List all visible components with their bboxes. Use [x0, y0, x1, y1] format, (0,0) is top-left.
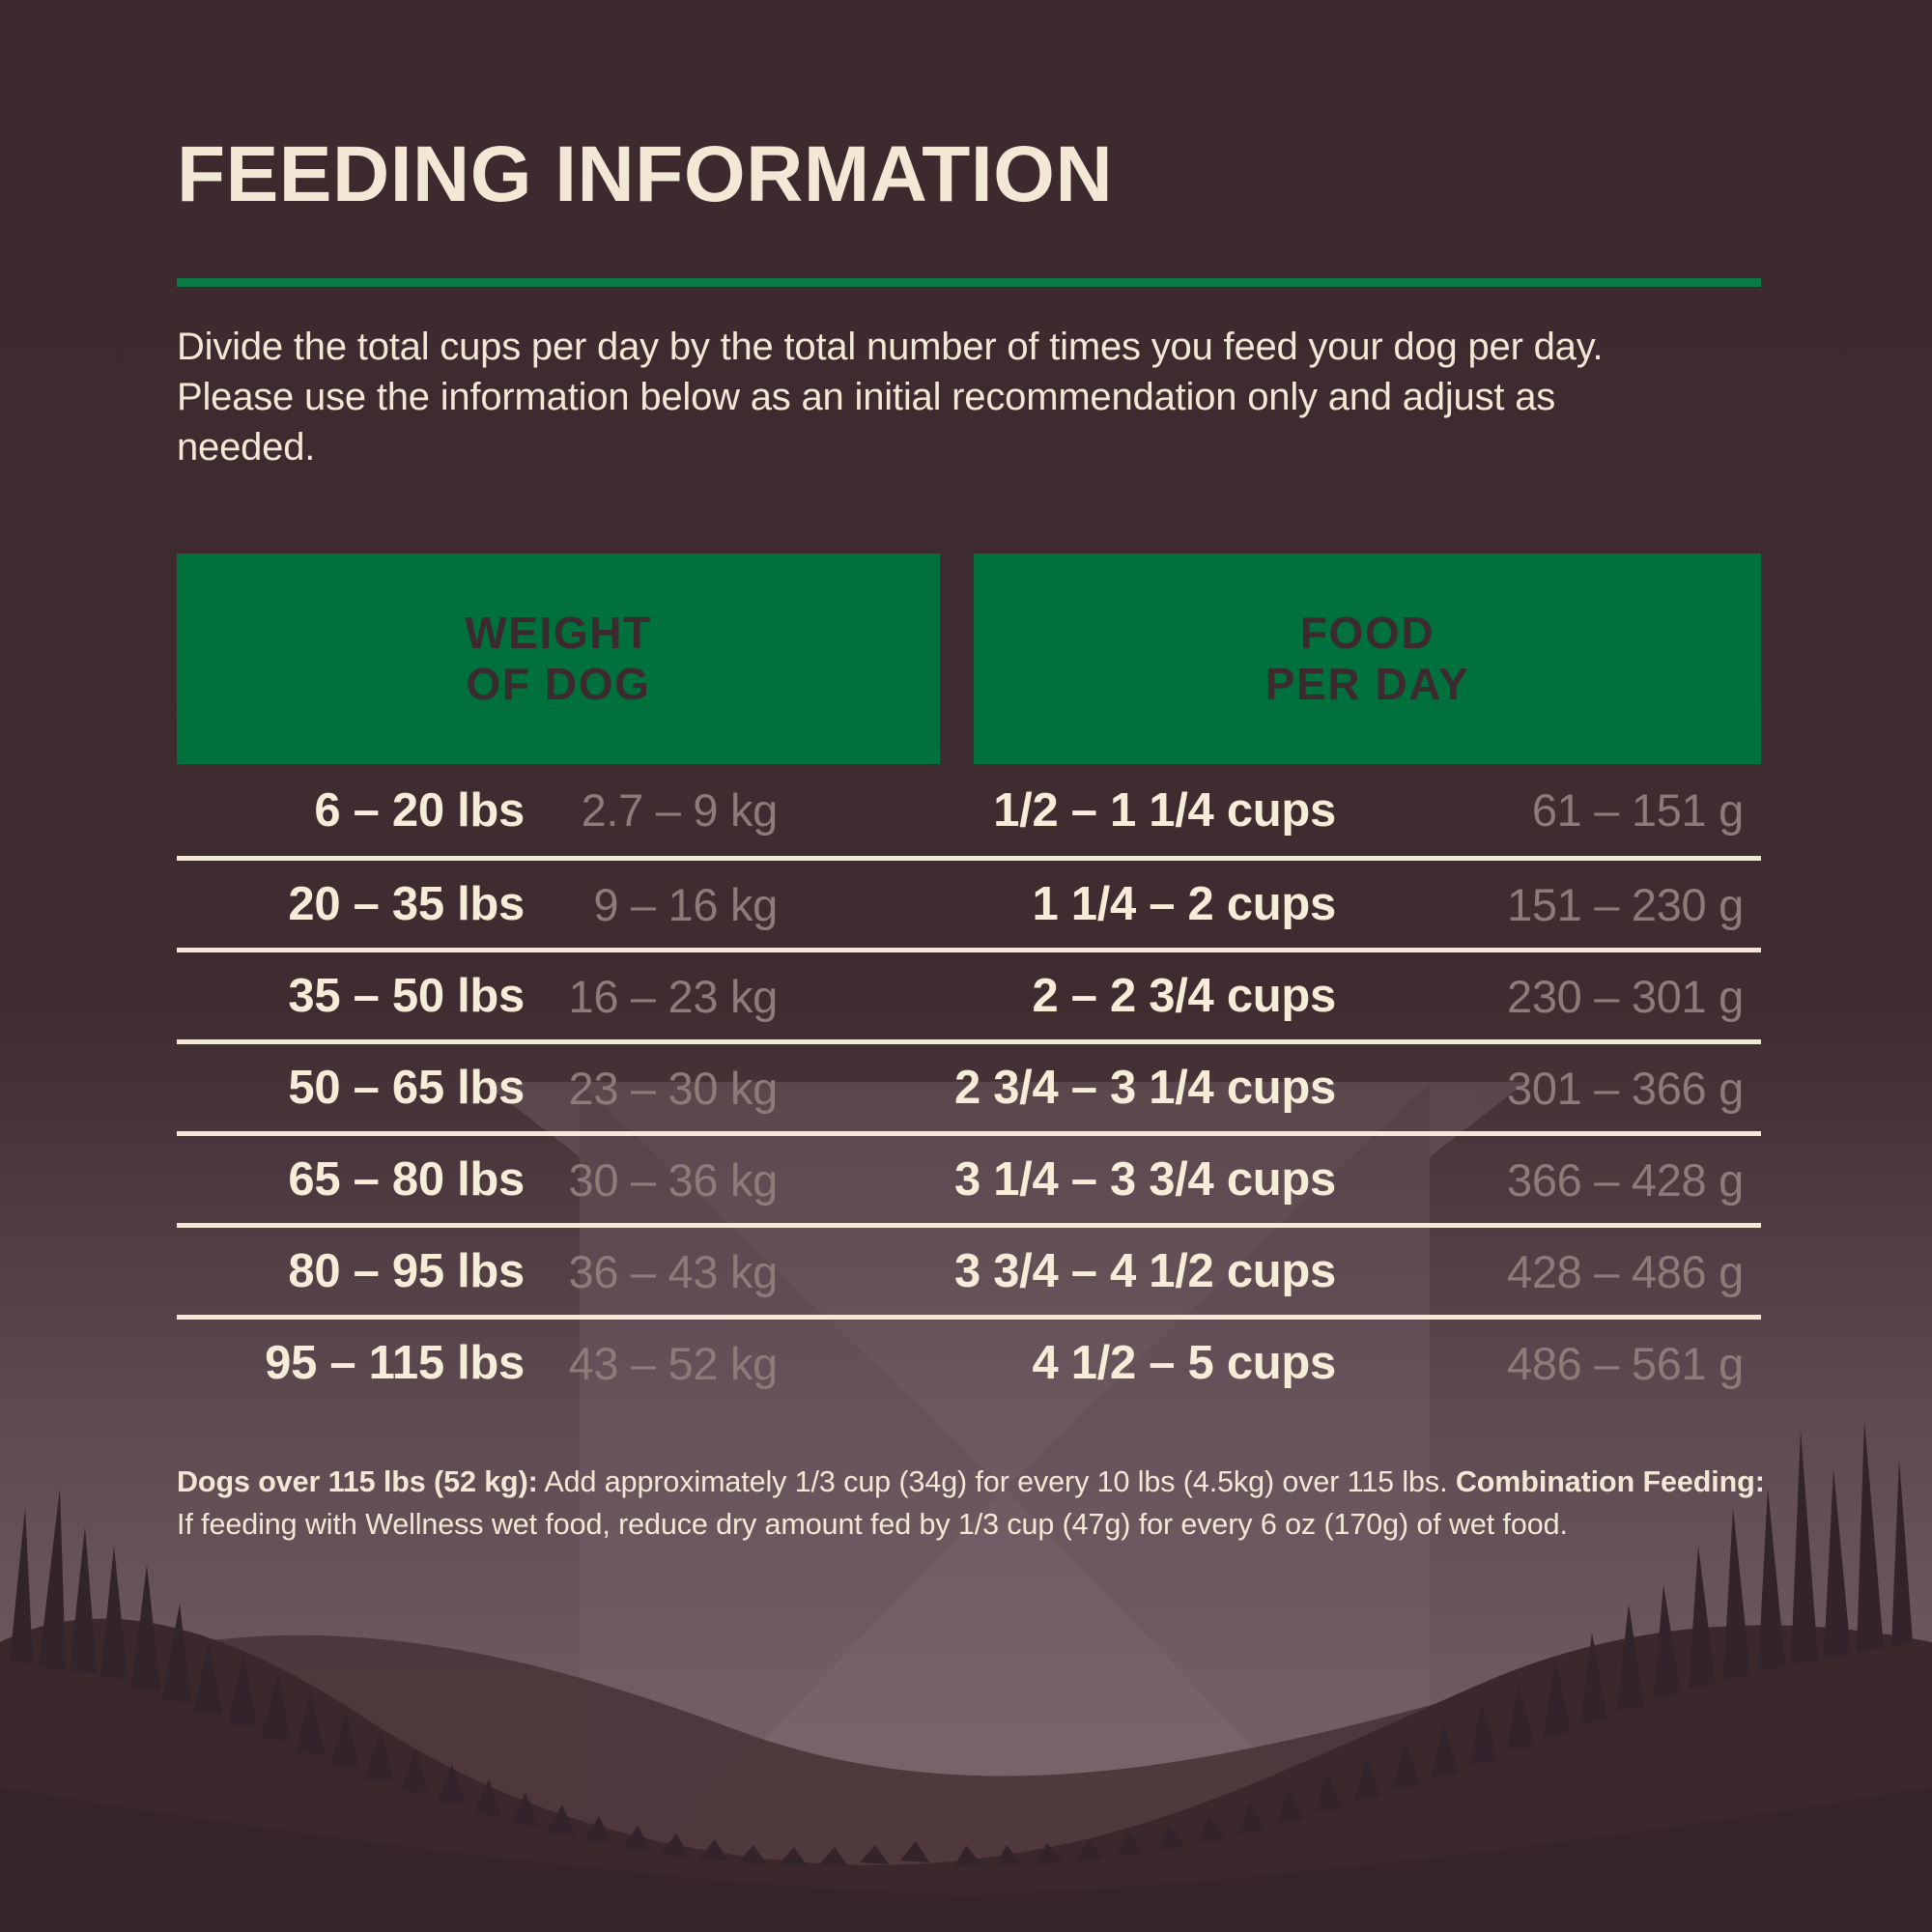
- food-cups-value: 2 3/4 – 3 1/4 cups: [954, 1061, 1336, 1115]
- cell-weight-kg: 16 – 23 kg: [525, 970, 853, 1023]
- cell-weight-kg: 2.7 – 9 kg: [525, 783, 853, 837]
- column-header-weight-of-dog: WEIGHT OF DOG: [177, 554, 940, 764]
- cell-food-cups: 1 1/4 – 2 cups: [853, 877, 1336, 931]
- cell-food-cups: 1/2 – 1 1/4 cups: [853, 783, 1336, 838]
- food-cups-value: 3 3/4 – 4 1/2 cups: [954, 1244, 1336, 1298]
- cell-weight-kg: 9 – 16 kg: [525, 878, 853, 931]
- weight-kg-value: 30 – 36 kg: [568, 1153, 778, 1207]
- table-row: 35 – 50 lbs 16 – 23 kg 2 – 2 3/4 cups 23…: [177, 948, 1761, 1039]
- footnote-text-dogs-over: Add approximately 1/3 cup (34g) for ever…: [538, 1465, 1456, 1498]
- food-grams-value: 428 – 486 g: [1507, 1245, 1744, 1298]
- footnote-label-combination-feeding: Combination Feeding:: [1456, 1465, 1765, 1498]
- cell-food-grams: 486 – 561 g: [1336, 1337, 1761, 1390]
- cell-weight-lbs: 6 – 20 lbs: [177, 783, 525, 838]
- table-row: 95 – 115 lbs 43 – 52 kg 4 1/2 – 5 cups 4…: [177, 1315, 1761, 1406]
- column-header-weight-line1: WEIGHT: [465, 608, 652, 658]
- weight-lbs-value: 35 – 50 lbs: [288, 969, 525, 1023]
- cell-food-grams: 151 – 230 g: [1336, 878, 1761, 931]
- food-grams-value: 366 – 428 g: [1507, 1153, 1744, 1207]
- cell-food-grams: 428 – 486 g: [1336, 1245, 1761, 1298]
- cell-food-grams: 366 – 428 g: [1336, 1153, 1761, 1207]
- feeding-table: 6 – 20 lbs 2.7 – 9 kg 1/2 – 1 1/4 cups 6…: [177, 764, 1761, 1406]
- food-grams-value: 486 – 561 g: [1507, 1337, 1744, 1390]
- weight-kg-value: 9 – 16 kg: [593, 878, 778, 931]
- cell-food-cups: 4 1/2 – 5 cups: [853, 1336, 1336, 1390]
- weight-lbs-value: 50 – 65 lbs: [288, 1061, 525, 1115]
- food-cups-value: 3 1/4 – 3 3/4 cups: [954, 1152, 1336, 1207]
- column-header-food-per-day: FOOD PER DAY: [974, 554, 1761, 764]
- cell-weight-lbs: 35 – 50 lbs: [177, 969, 525, 1023]
- weight-kg-value: 36 – 43 kg: [568, 1245, 778, 1298]
- weight-kg-value: 43 – 52 kg: [568, 1337, 778, 1390]
- cell-food-grams: 301 – 366 g: [1336, 1062, 1761, 1115]
- cell-food-cups: 2 3/4 – 3 1/4 cups: [853, 1061, 1336, 1115]
- food-cups-value: 2 – 2 3/4 cups: [1033, 969, 1337, 1023]
- food-grams-value: 61 – 151 g: [1532, 783, 1744, 837]
- weight-kg-value: 16 – 23 kg: [568, 970, 778, 1023]
- cell-weight-lbs: 80 – 95 lbs: [177, 1244, 525, 1298]
- food-grams-value: 151 – 230 g: [1507, 878, 1744, 931]
- weight-lbs-value: 20 – 35 lbs: [288, 877, 525, 931]
- weight-lbs-value: 6 – 20 lbs: [314, 783, 525, 838]
- cell-weight-kg: 23 – 30 kg: [525, 1062, 853, 1115]
- intro-paragraph: Divide the total cups per day by the tot…: [177, 322, 1655, 472]
- cell-weight-lbs: 95 – 115 lbs: [177, 1336, 525, 1390]
- cell-weight-kg: 30 – 36 kg: [525, 1153, 853, 1207]
- weight-lbs-value: 65 – 80 lbs: [288, 1152, 525, 1207]
- cell-weight-lbs: 65 – 80 lbs: [177, 1152, 525, 1207]
- table-row: 80 – 95 lbs 36 – 43 kg 3 3/4 – 4 1/2 cup…: [177, 1223, 1761, 1315]
- table-row: 6 – 20 lbs 2.7 – 9 kg 1/2 – 1 1/4 cups 6…: [177, 764, 1761, 856]
- food-cups-value: 4 1/2 – 5 cups: [1033, 1336, 1337, 1390]
- column-header-weight-line2: OF DOG: [466, 659, 650, 709]
- column-header-food-line2: PER DAY: [1265, 659, 1469, 709]
- page-title: FEEDING INFORMATION: [177, 135, 1113, 214]
- cell-food-cups: 2 – 2 3/4 cups: [853, 969, 1336, 1023]
- cell-weight-kg: 43 – 52 kg: [525, 1337, 853, 1390]
- footnote-text-combination-feeding: If feeding with Wellness wet food, reduc…: [177, 1508, 1568, 1541]
- cell-weight-lbs: 20 – 35 lbs: [177, 877, 525, 931]
- food-grams-value: 301 – 366 g: [1507, 1062, 1744, 1115]
- table-row: 20 – 35 lbs 9 – 16 kg 1 1/4 – 2 cups 151…: [177, 856, 1761, 948]
- weight-kg-value: 2.7 – 9 kg: [582, 783, 778, 837]
- food-grams-value: 230 – 301 g: [1507, 970, 1744, 1023]
- footnote-label-dogs-over: Dogs over 115 lbs (52 kg):: [177, 1465, 538, 1498]
- title-divider: [177, 278, 1761, 287]
- cell-food-cups: 3 3/4 – 4 1/2 cups: [853, 1244, 1336, 1298]
- weight-lbs-value: 95 – 115 lbs: [265, 1336, 525, 1390]
- food-cups-value: 1/2 – 1 1/4 cups: [993, 783, 1336, 838]
- cell-food-cups: 3 1/4 – 3 3/4 cups: [853, 1152, 1336, 1207]
- cell-weight-lbs: 50 – 65 lbs: [177, 1061, 525, 1115]
- cell-weight-kg: 36 – 43 kg: [525, 1245, 853, 1298]
- cell-food-grams: 61 – 151 g: [1336, 783, 1761, 837]
- column-header-food-line1: FOOD: [1300, 608, 1435, 658]
- table-row: 50 – 65 lbs 23 – 30 kg 2 3/4 – 3 1/4 cup…: [177, 1039, 1761, 1131]
- cell-food-grams: 230 – 301 g: [1336, 970, 1761, 1023]
- table-row: 65 – 80 lbs 30 – 36 kg 3 1/4 – 3 3/4 cup…: [177, 1131, 1761, 1223]
- food-cups-value: 1 1/4 – 2 cups: [1033, 877, 1337, 931]
- weight-lbs-value: 80 – 95 lbs: [288, 1244, 525, 1298]
- weight-kg-value: 23 – 30 kg: [568, 1062, 778, 1115]
- footnote: Dogs over 115 lbs (52 kg): Add approxima…: [177, 1462, 1780, 1546]
